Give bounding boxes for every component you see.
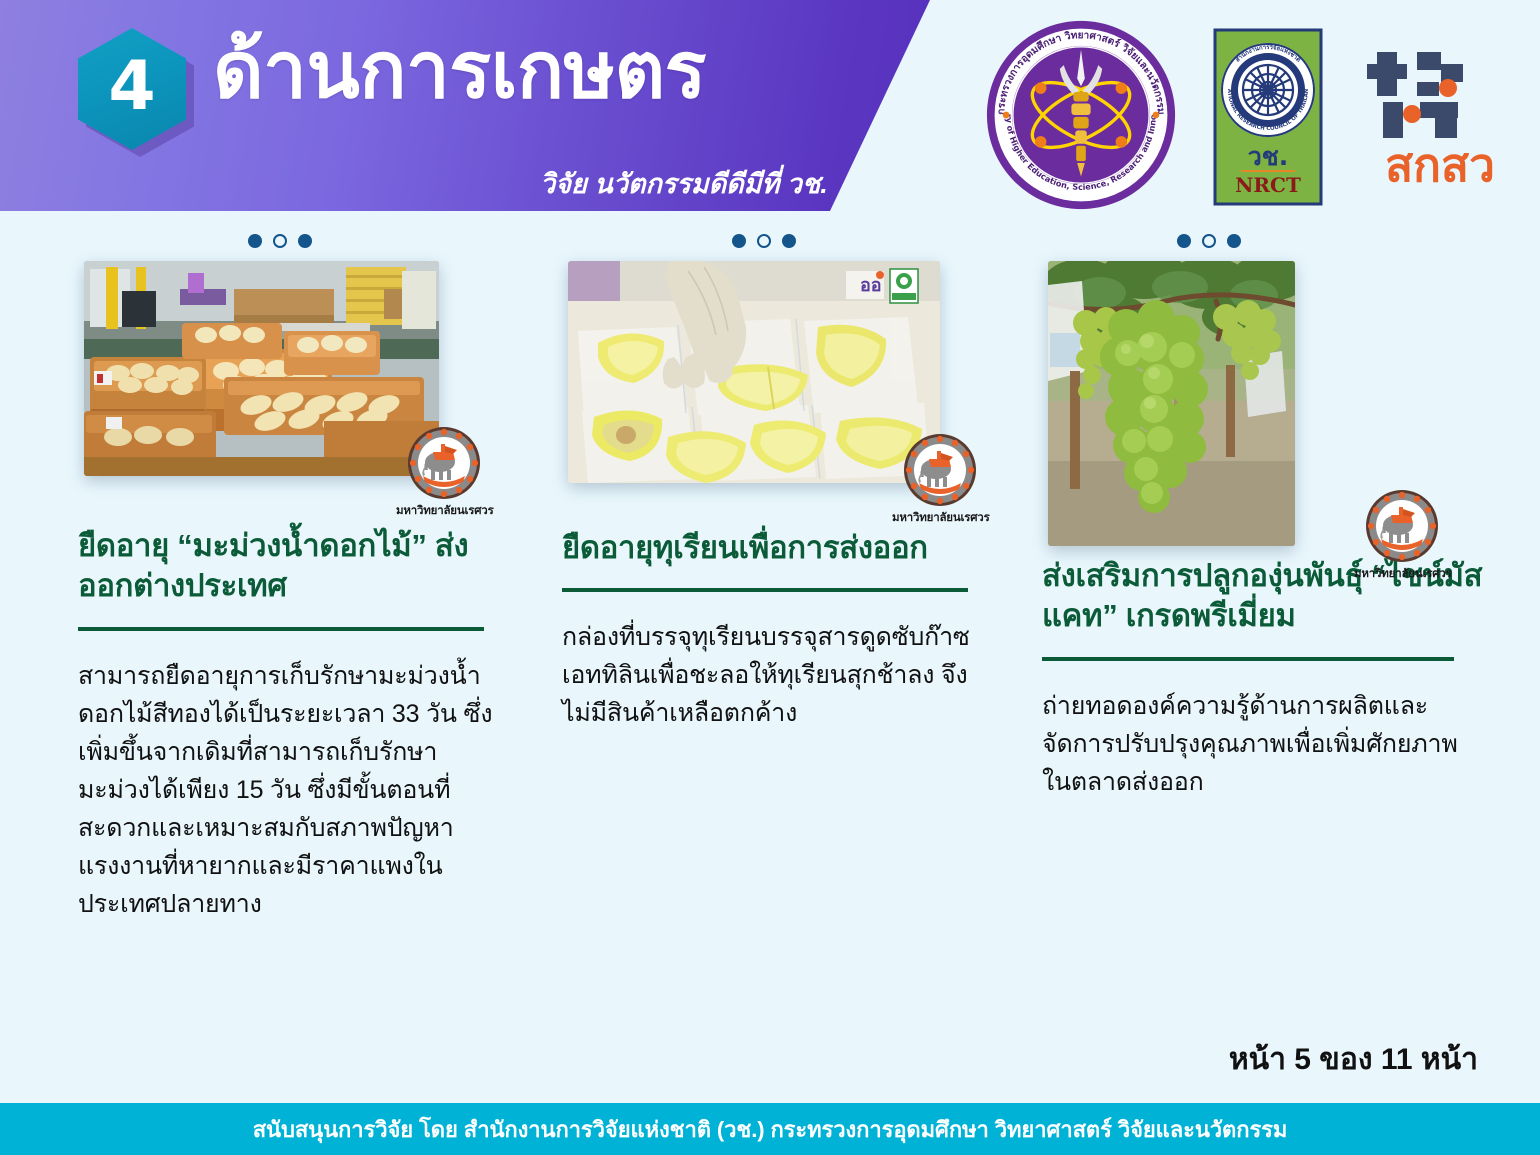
card-3-seal-caption: มหาวิทยาลัยนเรศวร [1354,565,1450,583]
sksw-wordmark: สกสว [1385,138,1495,189]
card-1-title: ยืดอายุ “มะม่วงน้ำดอกไม้” ส่งออกต่างประเ… [78,526,518,607]
card-3-divider [1042,657,1454,661]
footer-text: สนับสนุนการวิจัย โดย สำนักงานการวิจัยแห่… [253,1112,1288,1147]
content-card-3: มหาวิทยาลัยนเรศวร ส่งเสริมการปลูกองุ่นพั… [1042,226,1492,801]
mhesi-logo: กระทรวงการอุดมศึกษา วิทยาศาสตร์ วิจัยและ… [985,19,1177,211]
card-3-dots [1042,226,1492,256]
card-3-body: ถ่ายทอดองค์ความรู้ด้านการผลิตและจัดการปร… [1042,687,1462,801]
card-3-photo [1048,261,1295,546]
page-subtitle: วิจัย นวัตกรรมดีดีมีที่ วช. [540,162,828,205]
card-2-photo-wrap: ออ [562,261,1002,483]
card-1-photo-wrap: มหาวิทยาลัยนเรศวร [78,261,518,476]
page-indicator: หน้า 5 ของ 11 หน้า [1229,1036,1478,1083]
card-2-seal-caption: มหาวิทยาลัยนเรศวร [892,509,988,527]
naresuan-university-seal-icon [1365,489,1439,563]
card-2-dots [562,226,1002,256]
section-number-badge: 4 [78,28,186,150]
page-title: ด้านการเกษตร [213,26,706,116]
sksw-logo: สกสว [1365,44,1515,189]
card-3-university-credit: มหาวิทยาลัยนเรศวร [1354,489,1450,583]
dot-filled [248,234,262,248]
card-2-university-credit: มหาวิทยาลัยนเรศวร [892,433,988,527]
naresuan-university-seal-icon [903,433,977,507]
card-2-divider [562,588,968,592]
card-1-university-credit: มหาวิทยาลัยนเรศวร [396,426,492,520]
card-3-photo-wrap: มหาวิทยาลัยนเรศวร [1042,261,1492,546]
dot-filled [732,234,746,248]
naresuan-university-seal-icon [407,426,481,500]
nrct-en-label: NRCT [1235,173,1301,197]
card-1-body: สามารถยืดอายุการเก็บรักษามะม่วงน้ำดอกไม้… [78,657,496,923]
card-2-photo: ออ [568,261,940,483]
dot-filled [782,234,796,248]
logo-group: กระทรวงการอุดมศึกษา วิทยาศาสตร์ วิจัยและ… [975,14,1520,210]
card-1-seal-caption: มหาวิทยาลัยนเรศวร [396,502,492,520]
header-band: 4 ด้านการเกษตร วิจัย นวัตกรรมดีดีมีที่ ว… [0,0,930,211]
footer-bar: สนับสนุนการวิจัย โดย สำนักงานการวิจัยแห่… [0,1103,1540,1155]
dot-filled [298,234,312,248]
nrct-thai-label: วช. [1248,142,1289,171]
dot-hollow [273,234,287,248]
slide-page: 4 ด้านการเกษตร วิจัย นวัตกรรมดีดีมีที่ ว… [0,0,1540,1155]
card-1-photo [84,261,439,476]
nrct-logo: สำนักงานการวิจัยแห่งชาติ NATIONAL RESEAR… [1213,28,1323,206]
content-card-1: มหาวิทยาลัยนเรศวร ยืดอายุ “มะม่วงน้ำดอกไ… [78,226,518,923]
dot-filled [1177,234,1191,248]
section-number: 4 [78,28,186,150]
card-2-title: ยืดอายุทุเรียนเพื่อการส่งออก [562,528,1002,568]
card-1-dots [78,226,518,256]
dot-hollow [757,234,771,248]
card-2-body: กล่องที่บรรจุทุเรียนบรรจุสารดูดซับก๊าซเอ… [562,618,974,732]
content-card-2: ออ [562,226,1002,732]
dot-hollow [1202,234,1216,248]
card-1-divider [78,627,484,631]
dot-filled [1227,234,1241,248]
